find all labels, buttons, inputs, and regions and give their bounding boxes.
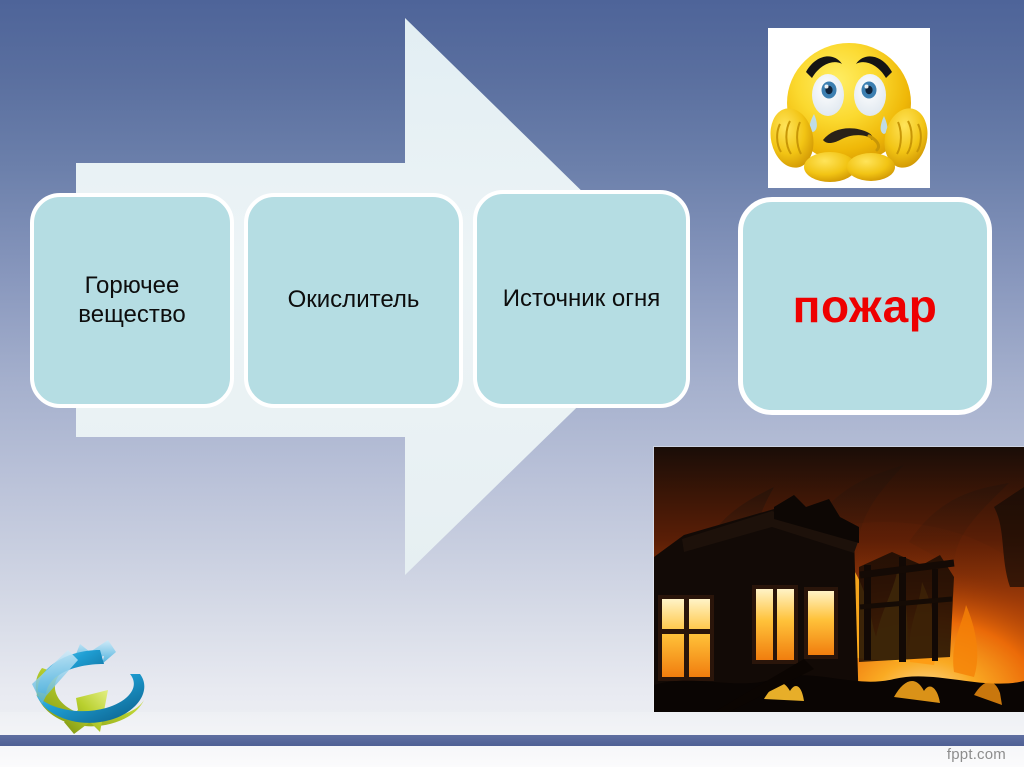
circular-arrows-logo-icon [16,630,166,750]
burning-house-illustration [654,447,1024,712]
process-box-fuel[interactable]: Горючее вещество [30,193,234,408]
process-box-result-fire[interactable]: пожар [738,197,992,415]
process-box-oxidizer[interactable]: Окислитель [244,193,463,408]
burning-house-photo [654,447,1024,712]
slide-canvas: Горючее вещество Окислитель Источник огн… [0,0,1024,767]
process-box-ignition-source-label: Источник огня [487,285,676,313]
process-box-oxidizer-label: Окислитель [258,286,449,314]
circular-arrows-logo [16,630,166,750]
watermark-text: fppt.com [947,746,1006,763]
process-box-ignition-source[interactable]: Источник огня [473,190,690,408]
sad-worried-smiley-face-icon [768,28,930,188]
process-box-fuel-label: Горючее вещество [44,272,220,329]
process-box-result-fire-label: пожар [753,279,977,333]
smiley-image-frame [768,28,930,188]
